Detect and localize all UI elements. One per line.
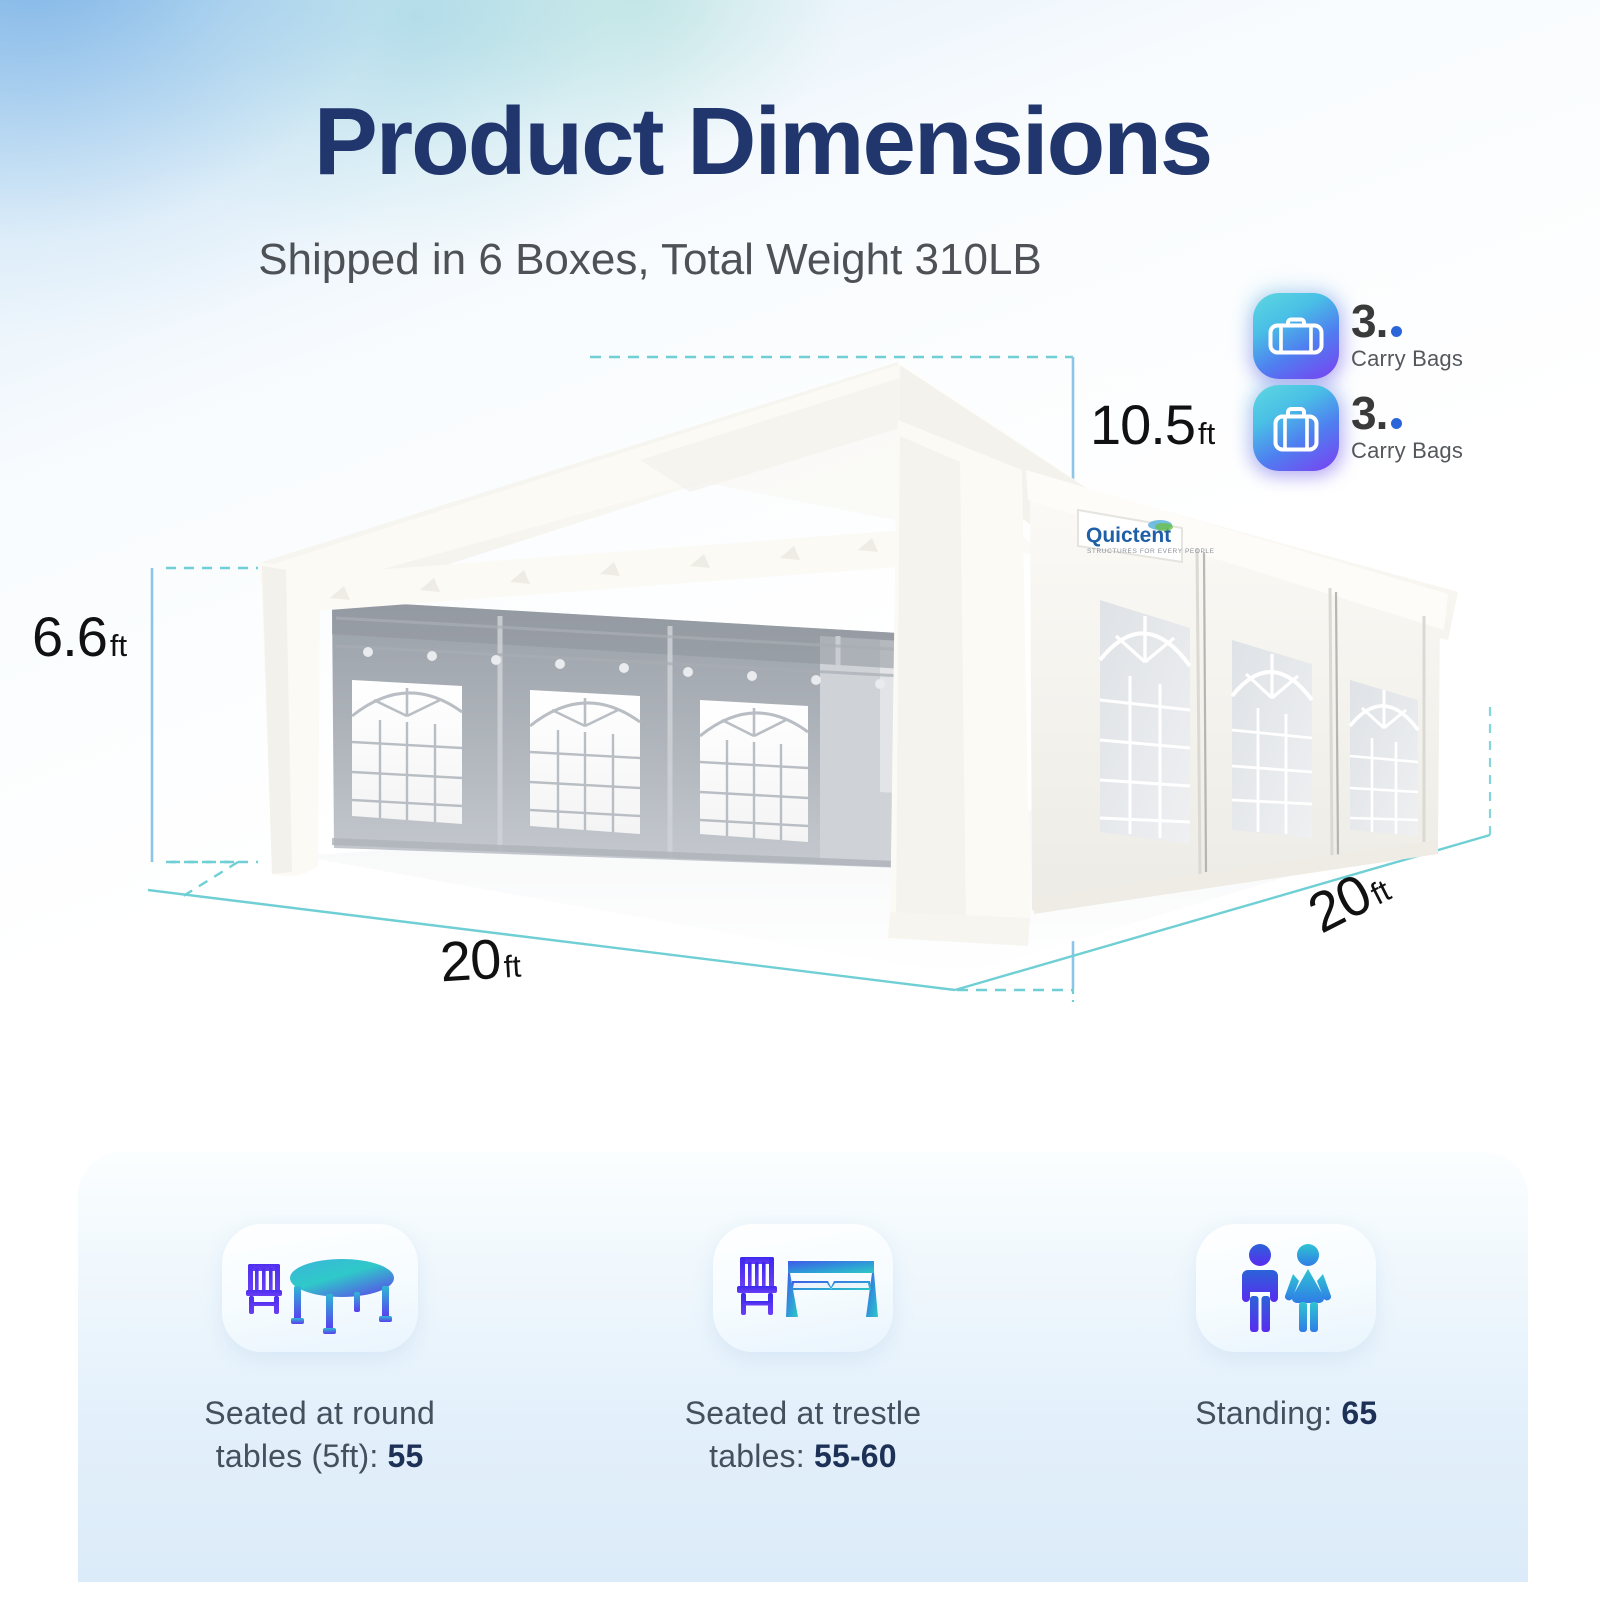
round-table-top — [290, 1259, 394, 1297]
capacity-text-standing: Standing: 65 — [1195, 1392, 1377, 1435]
round-table-chair-icon — [222, 1224, 418, 1352]
standing-people-icon — [1196, 1224, 1376, 1352]
capacity-line1-round: Seated at round — [204, 1395, 435, 1431]
interior-window-group — [352, 680, 808, 842]
dimension-sidewall-label: 6.6ft — [32, 604, 127, 669]
capacity-text-trestle-tables: Seated at trestle tables: 55-60 — [685, 1392, 921, 1478]
interior-window-3 — [700, 700, 808, 842]
capacity-value-round: 55 — [388, 1438, 424, 1474]
chair-glyph — [737, 1257, 777, 1315]
trestle-table-glyph — [786, 1261, 878, 1317]
side-window-2 — [1232, 640, 1312, 838]
woman-glyph — [1285, 1244, 1331, 1332]
capacity-line2-prefix-round: tables (5ft): — [216, 1438, 388, 1474]
capacity-line1-standing: Standing: — [1195, 1395, 1341, 1431]
dimension-sidewall-unit: ft — [110, 628, 127, 663]
capacity-row: Seated at round tables (5ft): 55 — [78, 1152, 1528, 1582]
dimension-height-label: 10.5ft — [1090, 392, 1215, 457]
dimension-height-unit: ft — [1198, 416, 1215, 451]
interior-window-1 — [352, 680, 462, 824]
capacity-item-trestle-tables: Seated at trestle tables: 55-60 — [561, 1152, 1044, 1582]
man-glyph — [1242, 1244, 1278, 1332]
dimension-height-value: 10.5 — [1090, 393, 1195, 456]
dimension-sidewall-value: 6.6 — [32, 605, 107, 668]
capacity-item-standing: Standing: 65 — [1045, 1152, 1528, 1582]
capacity-panel: Seated at round tables (5ft): 55 — [78, 1152, 1528, 1582]
capacity-value-trestle: 55-60 — [814, 1438, 897, 1474]
brand-tagline: STRUCTURES FOR EVERY PEOPLE — [1087, 548, 1215, 555]
side-window-1 — [1100, 600, 1190, 844]
capacity-line2-prefix-trestle: tables: — [709, 1438, 814, 1474]
interior-window-2 — [530, 690, 640, 834]
dimension-front-width-value: 20 — [438, 927, 502, 994]
capacity-value-standing: 65 — [1341, 1395, 1377, 1431]
capacity-line1-trestle: Seated at trestle — [685, 1395, 921, 1431]
dimension-front-width-unit: ft — [503, 949, 522, 985]
dimension-front-width-label: 20ft — [438, 925, 522, 995]
chair-glyph — [246, 1264, 282, 1314]
tent-illustration: Quictent STRUCTURES FOR EVERY PEOPLE — [0, 0, 1600, 1120]
side-window-3 — [1350, 680, 1418, 836]
capacity-item-round-tables: Seated at round tables (5ft): 55 — [78, 1152, 561, 1582]
capacity-text-round-tables: Seated at round tables (5ft): 55 — [204, 1392, 435, 1478]
trestle-table-chair-icon — [713, 1224, 893, 1352]
